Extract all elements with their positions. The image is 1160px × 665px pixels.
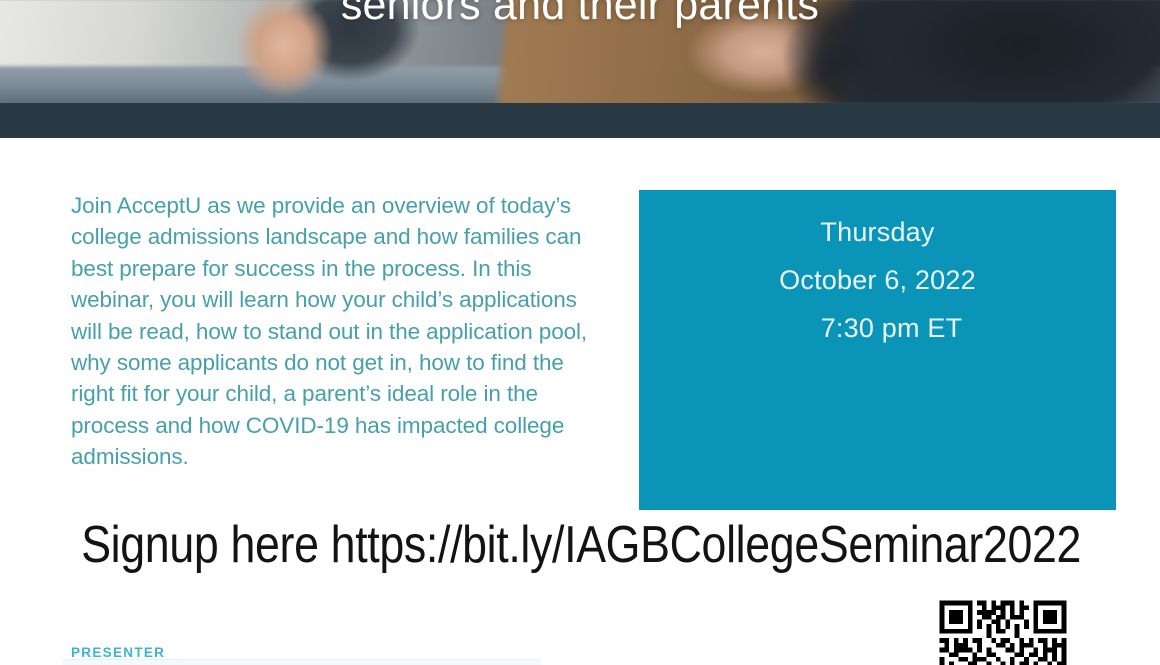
event-time: 7:30 pm ET xyxy=(639,304,1116,352)
event-day: Thursday xyxy=(639,208,1116,256)
event-date-panel: Thursday October 6, 2022 7:30 pm ET xyxy=(639,190,1116,510)
flyer-page: seniors and their parents Join AcceptU a… xyxy=(0,0,1160,665)
header-navy-band xyxy=(0,103,1160,138)
qr-code[interactable] xyxy=(935,596,1071,665)
signup-url-line[interactable]: Signup here https://bit.ly/IAGBCollegeSe… xyxy=(81,516,1079,574)
hero-header: seniors and their parents xyxy=(0,0,1160,103)
webinar-description: Join AcceptU as we provide an overview o… xyxy=(71,190,599,473)
event-date: October 6, 2022 xyxy=(639,256,1116,304)
hero-background-photo xyxy=(0,0,1160,103)
event-date-lines: Thursday October 6, 2022 7:30 pm ET xyxy=(639,208,1116,352)
presenter-label: PRESENTER xyxy=(71,645,165,660)
